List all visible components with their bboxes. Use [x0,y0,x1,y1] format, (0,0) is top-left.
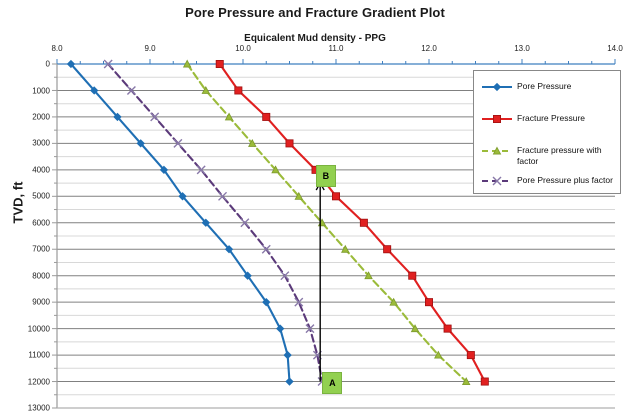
legend-label: Fracture pressure with factor [517,145,620,167]
legend-marker-icon [480,175,514,187]
legend-item-pore-pressure[interactable]: Pore Pressure [480,81,620,93]
legend-label: Fracture Pressure [517,113,585,124]
annotation-box-b: B [316,165,336,187]
legend-marker-icon [480,81,514,93]
annotation-box-a: A [322,372,342,394]
pore-pressure-fracture-gradient-chart: Pore Pressure and Fracture Gradient Plot… [0,0,630,420]
legend-marker-icon [480,145,514,157]
legend-label: Pore Pressure plus factor [517,175,613,186]
chart-legend: Pore PressureFracture PressureFracture p… [473,70,621,194]
legend-label: Pore Pressure [517,81,571,92]
legend-item-pore-pressure-plus-factor[interactable]: Pore Pressure plus factor [480,175,620,187]
legend-item-fracture-pressure-with-factor[interactable]: Fracture pressure with factor [480,145,620,167]
plot-area [0,0,630,420]
legend-marker-icon [480,113,514,125]
legend-item-fracture-pressure[interactable]: Fracture Pressure [480,113,620,125]
